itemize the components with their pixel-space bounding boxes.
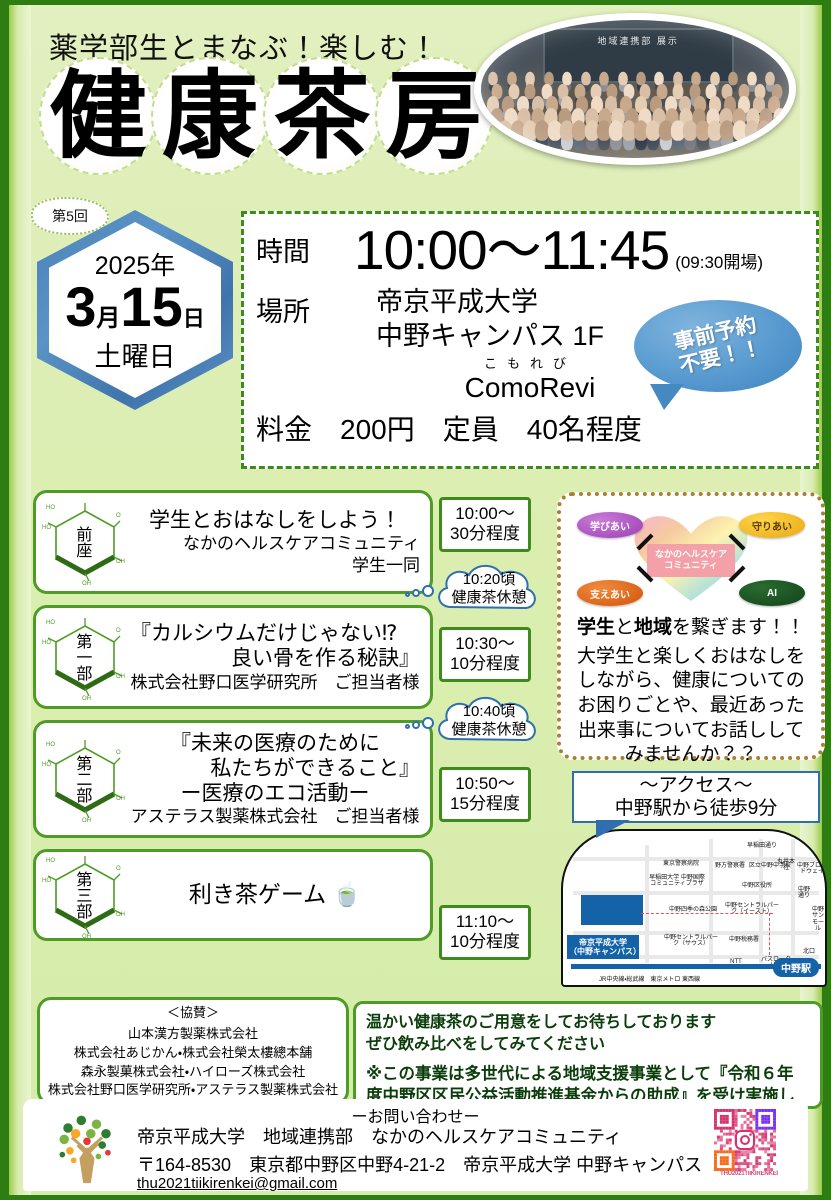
svg-text:OH: OH [82,818,91,822]
program-part-label: 前座 [73,510,89,574]
svg-text:OH: OH [116,674,125,680]
time-value: 10:00〜11:45 [354,222,669,280]
title-char-4: 房 [375,57,493,175]
poster-title: 健 康 茶 房 [39,57,485,175]
svg-text:O: O [116,513,121,519]
map-landmark-0: 東京警察病院 [655,861,707,867]
program-presenter: アステラス製薬株式会社 ご担当者様 [130,806,420,827]
date-day: 15 [120,280,182,333]
svg-text:OH: OH [82,581,91,585]
map-landmark-1: 野方警察署 [715,863,745,869]
place-line-2: 中野キャンパス 1F [376,320,604,354]
place-value: 帝京平成大学 中野キャンパス 1F [354,282,604,354]
map-campus-label: 帝京平成大学 （中野キャンパス） [567,935,639,959]
place-line-1: 帝京平成大学 [376,286,604,320]
map-road-v1 [645,845,649,963]
map-landmark-14: 中野サンモール [811,907,825,932]
headline-and: と [615,617,634,638]
poster-header: 薬学部生とまなぶ！楽しむ！ 健 康 茶 房 地域連携部 展示 [31,9,800,194]
fee-row: 料金 200円 定員 40名程度 [244,408,816,448]
fee-value: 200円 [340,408,415,448]
access-detail: 中野駅から徒歩9分 [615,797,778,820]
community-body: 大学生と楽しくおはなしをしながら、健康についてのお困りごとや、最近あった出来事に… [569,645,813,768]
date-day-unit: 日 [183,301,205,333]
access-map: 帝京平成大学 （中野キャンパス） 東京警察病院 野方警察署 区立中野中学校 丸井… [561,829,827,987]
map-landmark-13: 中野通り [797,887,811,900]
program-part-label: 第二部 [73,747,89,811]
map-rail-text: JR中央線・総武線 東京メトロ 東西線 [599,974,700,983]
program-time-chip: 10:50〜15分程度 [439,767,531,822]
svg-text:O: O [116,750,121,756]
svg-text:O: O [116,866,121,872]
tea-break-text: 10:20頃健康茶休憩 [451,571,526,607]
date-main: 3 月 15 日 [65,280,204,333]
molecule-hexagon-icon: HOOHOOHOH第一部 [42,614,128,700]
access-banner: 〜アクセス〜 中野駅から徒歩9分 [572,771,820,823]
headline-tail: を繋ぎます！！ [672,617,805,638]
sponsor-line-2: 株式会社あじかん・株式会社榮太樓總本舗 [74,1044,312,1063]
sponsor-line-1: 山本漢方製薬株式会社 [128,1025,258,1044]
program-row-body: 学生とおはなしをしよう！なかのヘルスケアコミュニティ学生一同 [130,508,420,576]
cloud-trail-dots [405,579,436,597]
program-title-2: 良い骨を作る秘訣』 [130,646,420,671]
svg-text:OH: OH [82,934,91,938]
svg-text:HO: HO [42,878,51,884]
map-route-2 [769,913,770,955]
map-campus-block [581,895,643,925]
event-info-box: 時間 10:00〜11:45 (09:30開場) 場所 帝京平成大学 中野キャン… [241,211,819,469]
diagram-pill-ai: AI [739,580,805,606]
program-title: 『カルシウムだけじゃない⁉ [130,621,420,646]
contact-org: 帝京平成大学 地域連携部 なかのヘルスケアコミュニティ [137,1123,622,1149]
program-title-3: ー医療のエコ活動ー [130,781,420,806]
program-part-label: 第一部 [73,625,89,689]
sponsors-box: ＜協賛＞ 山本漢方製薬株式会社 株式会社あじかん・株式会社榮太樓總本舗 森永製菓… [37,997,349,1105]
program-row: HOOHOOHOH第三部利き茶ゲーム 🍵 [33,849,433,941]
svg-text:OH: OH [116,796,125,802]
program-title: 利き茶ゲーム 🍵 [130,881,420,909]
program-subtitle: なかのヘルスケアコミュニティ [130,533,420,554]
program-row: HOOHOOHOH第二部『未来の医療のために私たちができること』ー医療のエコ活動… [33,720,433,838]
qr-label: THU2021TIIKIRENKEI [714,1171,784,1177]
svg-text:HO: HO [42,640,51,646]
svg-text:HO: HO [42,762,51,768]
contact-footer: ーお問い合わせー 帝京平成大学 地域連携部 なかのヘルスケアコミュニティ 〒16… [23,1099,808,1191]
program-time-chip: 10:30〜10分程度 [439,627,531,682]
program-title: 学生とおはなしをしよう！ [130,508,420,533]
molecule-hexagon-icon: HOOHOOHOH第三部 [42,852,128,938]
map-campus-sub: （中野キャンパス） [569,947,637,956]
program-row: HOOHOOHOH前座学生とおはなしをしよう！なかのヘルスケアコミュニティ学生一… [33,490,433,594]
svg-text:O: O [116,628,121,634]
program-time-chip: 11:10〜10分程度 [439,905,531,960]
map-landmark-3: 丸井本社 [777,859,795,872]
program-title: 『未来の医療のために [130,731,420,756]
diagram-pill-mamoriai: 守りあい [739,512,805,538]
sponsor-line-4: 株式会社野口医学研究所・アステラス製薬株式会社 [48,1081,338,1100]
tea-break-text: 10:40頃健康茶休憩 [451,703,526,739]
program-row-body: 利き茶ゲーム 🍵 [130,881,420,909]
poster-root: 薬学部生とまなぶ！楽しむ！ 健 康 茶 房 地域連携部 展示 第5回 2025年… [0,0,831,1200]
map-route-1 [641,913,773,914]
svg-text:HO: HO [42,525,51,531]
title-char-1: 健 [39,57,157,175]
diagram-pill-sasaeai: 支えあい [577,580,643,606]
qr-matrix [714,1109,776,1171]
time-note: (09:30開場) [669,222,763,273]
map-landmark-10: 中野税務署 [729,937,759,943]
left-stripe [9,5,31,1195]
date-weekday: 土曜日 [95,335,176,374]
map-landmark-4: 中野ブロードウェイ [797,863,827,876]
community-box: 学びあい 守りあい 支えあい AI なかのヘルスケアコミュニティ 学生と地域を繋… [557,492,825,760]
program-part-label: 第三部 [73,863,89,927]
date-month: 3 [65,280,96,333]
edition-badge: 第5回 [31,197,109,235]
note-line-2: ぜひ飲み比べをしてみてください [366,1034,810,1056]
capacity-value: 40名程度 [527,408,642,448]
capacity-label: 定員 [443,408,499,448]
program-row: HOOHOOHOH第一部『カルシウムだけじゃない⁉良い骨を作る秘訣』株式会社野口… [33,605,433,709]
fee-label: 料金 [256,408,312,448]
svg-text:HO: HO [46,742,55,748]
contact-email[interactable]: thu2021tiikirenkei@gmail.com [137,1175,337,1192]
program-list: HOOHOOHOH前座学生とおはなしをしよう！なかのヘルスケアコミュニティ学生一… [33,490,433,952]
molecule-hexagon-icon: HOOHOOHOH前座 [42,499,128,585]
no-reservation-text: 事前予約不要！！ [672,313,765,379]
community-diagram: 学びあい 守りあい 支えあい AI なかのヘルスケアコミュニティ [569,502,813,612]
map-campus-name: 帝京平成大学 [569,938,637,947]
program-presenter: 学生一同 [130,555,420,576]
date-hexagon: 2025年 3 月 15 日 土曜日 [37,210,233,410]
program-title-2: 私たちができること』 [130,756,420,781]
photo-gloss [481,20,789,158]
program-time-chip: 10:00〜30分程度 [439,497,531,552]
no-reservation-bubble: 事前予約不要！！ [634,300,802,392]
community-headline: 学生と地域を繋ぎます！！ [569,616,813,641]
note-box: 温かい健康茶のご用意をしてお待ちしております ぜひ飲み比べをしてみてください ※… [353,1001,823,1109]
title-char-2: 康 [151,57,269,175]
map-landmark-16: 早稲田通り [739,843,785,849]
svg-text:OH: OH [116,912,125,918]
sponsors-heading: ＜協賛＞ [167,1002,219,1021]
map-landmark-15: 北口 [799,949,819,955]
contact-address: 〒164-8530 東京都中野区中野4-21-2 帝京平成大学 中野キャンパス [137,1151,702,1177]
map-landmark-5: 早稲田大学 中野国際コミュニティプラザ [647,875,707,888]
title-char-3: 茶 [263,57,381,175]
svg-text:HO: HO [46,620,55,626]
svg-text:HO: HO [46,858,55,864]
group-photo: 地域連携部 展示 [474,13,796,165]
instagram-qr[interactable]: THU2021TIIKIRENKEI [714,1109,784,1177]
qr-code-image[interactable] [714,1109,776,1171]
tea-break-cloud: 10:40頃健康茶休憩 [433,693,545,749]
diagram-center-label: なかのヘルスケアコミュニティ [647,544,735,577]
map-landmark-6: 中野区役所 [741,883,773,889]
map-road-v4 [791,839,795,963]
date-month-unit: 月 [96,298,120,333]
program-row-body: 『未来の医療のために私たちができること』ー医療のエコ活動ーアステラス製薬株式会社… [130,731,420,828]
svg-text:OH: OH [82,696,91,700]
svg-text:HO: HO [46,505,55,511]
note-line-1: 温かい健康茶のご用意をしてお待ちしております [366,1012,810,1034]
molecule-hexagon-icon: HOOHOOHOH第二部 [42,736,128,822]
access-title: 〜アクセス〜 [639,774,752,797]
headline-students: 学生 [577,617,615,638]
diagram-pill-manabiai: 学びあい [577,512,643,538]
svg-text:OH: OH [116,559,125,565]
time-row: 時間 10:00〜11:45 (09:30開場) [244,222,816,280]
map-station-label: 中野駅 [773,958,819,977]
sponsor-line-3: 森永製菓株式会社・ハイローズ株式会社 [81,1063,306,1082]
time-label: 時間 [256,222,354,269]
program-row-body: 『カルシウムだけじゃない⁉良い骨を作る秘訣』株式会社野口医学研究所 ご担当者様 [130,621,420,693]
headline-region: 地域 [634,617,672,638]
place-label: 場所 [256,282,354,329]
cloud-trail-dots [405,711,436,729]
tea-break-cloud: 10:20頃健康茶休憩 [433,561,545,617]
map-road-v3 [759,839,763,963]
program-presenter: 株式会社野口医学研究所 ご担当者様 [130,672,420,693]
map-landmark-9: 中野セントラルパーク（サウス） [663,935,719,948]
